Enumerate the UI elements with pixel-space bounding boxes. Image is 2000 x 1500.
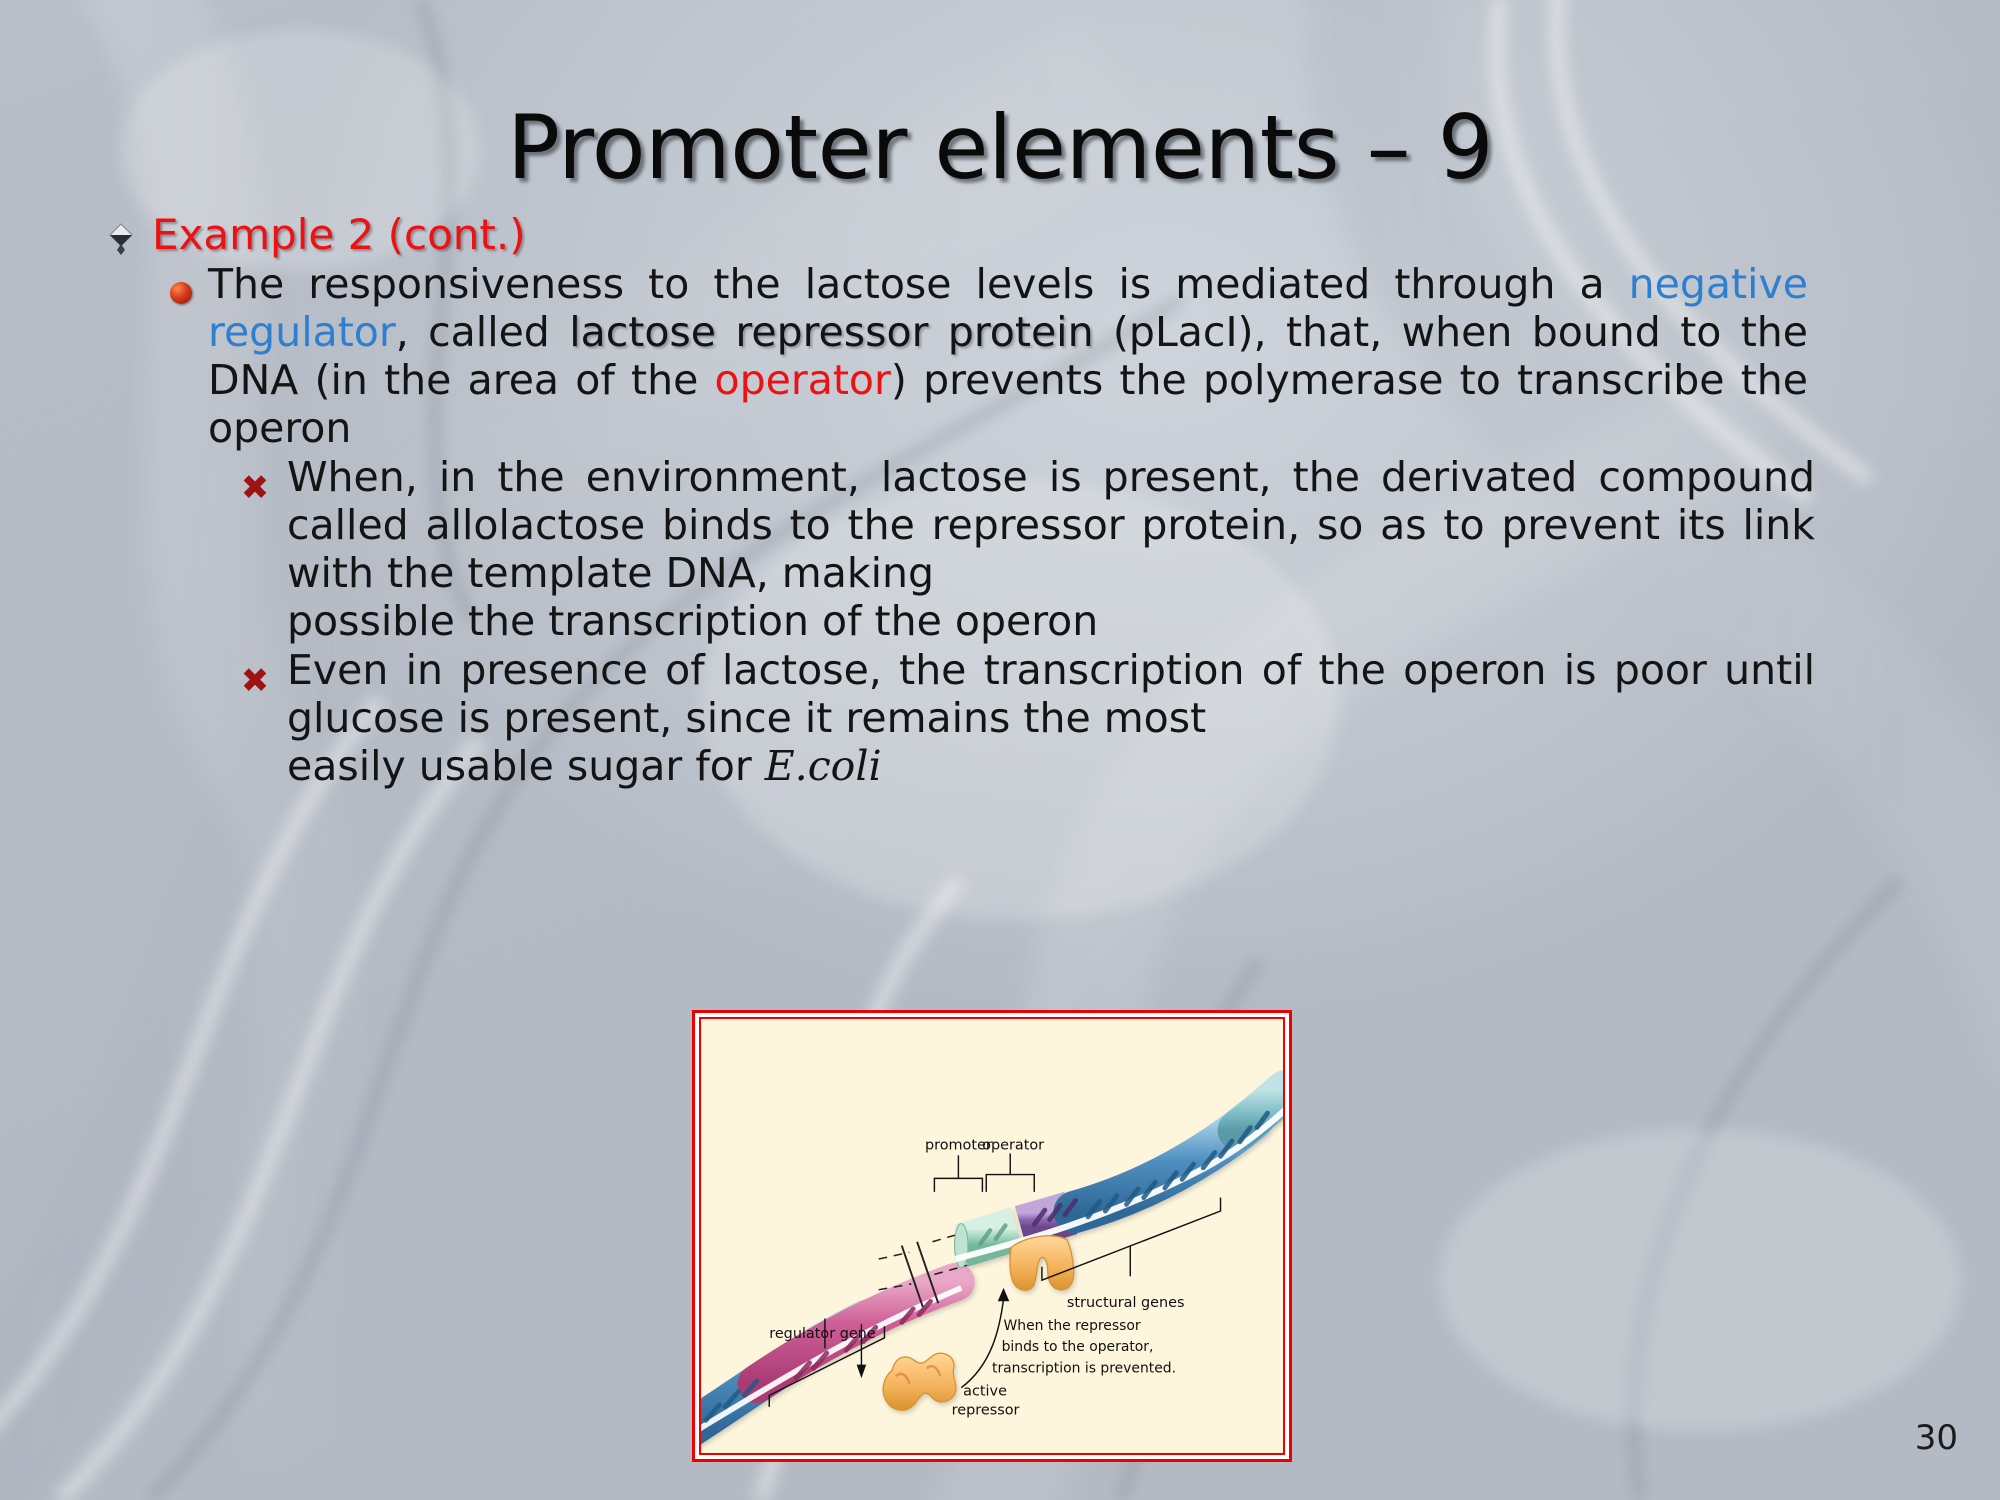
bullet-level1-example2: Example 2 (cont.): [108, 212, 1908, 257]
figure-label-structural-genes: structural genes: [1067, 1295, 1185, 1311]
ecoli-italic: E.coli: [765, 742, 882, 790]
text-segment-0: The responsiveness to the lactose levels…: [208, 260, 1629, 308]
figure-caption-line3: transcription is prevented.: [992, 1360, 1176, 1376]
active-repressor-shape: [883, 1353, 956, 1410]
bound-repressor-shape: [1010, 1236, 1074, 1290]
cross-bullet-icon: ✖: [240, 473, 270, 503]
dot-bullet-icon: [170, 282, 192, 304]
figure-label-repressor: repressor: [952, 1403, 1020, 1419]
text-segment-3: lactose repressor protein: [569, 308, 1093, 356]
level3-item-1-text: When, in the environment, lactose is pre…: [287, 454, 1815, 645]
cross-bullet-icon: ✖: [240, 666, 270, 696]
level2-text: The responsiveness to the lactose levels…: [208, 261, 1808, 452]
bullet-level2-responsiveness: The responsiveness to the lactose levels…: [170, 261, 1908, 452]
level1-text: Example 2 (cont.): [152, 212, 526, 257]
figure-caption-line2: binds to the operator,: [1002, 1339, 1154, 1355]
diamond-bullet-icon: [108, 222, 134, 256]
figure-label-operator: operator: [982, 1138, 1044, 1154]
lac-operon-figure-inner: regulator gene promoter operator structu…: [699, 1017, 1285, 1455]
text-segment-2: , called: [396, 308, 569, 356]
slide-body: Example 2 (cont.) The responsiveness to …: [108, 212, 1908, 793]
slide-canvas: Promoter elements – 9 Example 2 (cont.) …: [0, 0, 2000, 1500]
bullet-level3-item-2: ✖ Even in presence of lactose, the trans…: [240, 647, 1908, 790]
bullet-level3-item-1: ✖ When, in the environment, lactose is p…: [240, 454, 1908, 645]
lac-operon-diagram: regulator gene promoter operator structu…: [701, 1019, 1283, 1453]
level3-item-2-text: Even in presence of lactose, the transcr…: [287, 647, 1815, 790]
text-segment-5: operator: [715, 356, 891, 404]
level3-item-1-lastline: possible the transcription of the operon: [287, 598, 1815, 646]
slide-number: 30: [1915, 1418, 1958, 1458]
figure-label-active: active: [963, 1383, 1007, 1399]
level3-item-2-lastline: easily usable sugar for E.coli: [287, 743, 1815, 791]
lac-operon-figure: regulator gene promoter operator structu…: [692, 1010, 1292, 1462]
figure-caption-line1: When the repressor: [1004, 1318, 1141, 1334]
figure-label-regulator-gene: regulator gene: [769, 1326, 876, 1342]
slide-title: Promoter elements – 9: [0, 104, 2000, 192]
